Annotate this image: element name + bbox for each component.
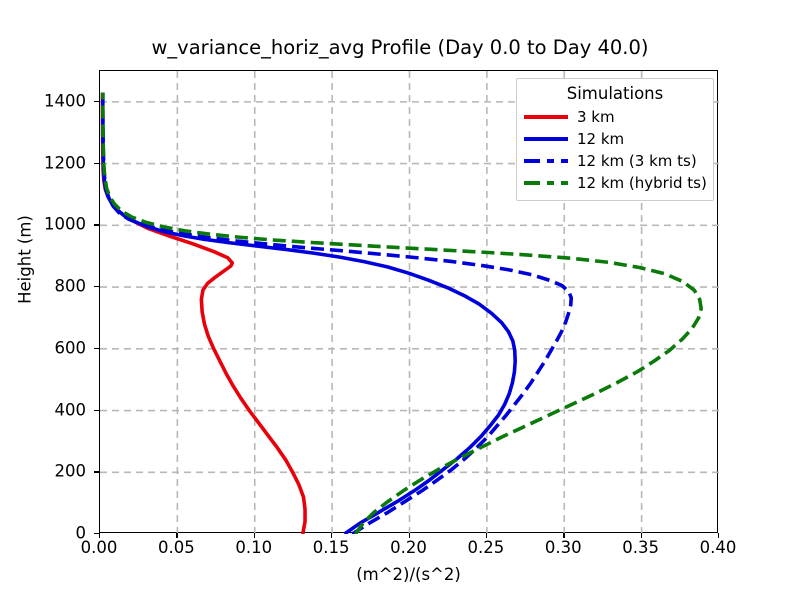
legend-item-label: 12 km — [577, 130, 624, 148]
x-tick-mark — [254, 533, 255, 538]
y-tick-mark — [94, 533, 99, 534]
x-tick-label: 0.00 — [81, 538, 118, 557]
y-tick-mark — [94, 286, 99, 287]
x-tick-mark — [563, 533, 564, 538]
x-tick-mark — [176, 533, 177, 538]
legend-title: Simulations — [524, 83, 706, 106]
legend-entries: 3 km12 km12 km (3 km ts)12 km (hybrid ts… — [524, 106, 706, 194]
y-tick-label: 600 — [10, 338, 86, 357]
x-tick-mark — [331, 533, 332, 538]
chart-figure: w_variance_horiz_avg Profile (Day 0.0 to… — [0, 0, 800, 600]
legend: Simulations 3 km12 km12 km (3 km ts)12 k… — [516, 78, 714, 201]
y-tick-mark — [94, 163, 99, 164]
x-tick-mark — [409, 533, 410, 538]
x-axis-label: (m^2)/(s^2) — [99, 565, 718, 584]
y-tick-label: 200 — [10, 462, 86, 481]
y-tick-mark — [94, 348, 99, 349]
x-tick-label: 0.05 — [158, 538, 195, 557]
legend-color-swatch — [524, 137, 568, 141]
y-tick-mark — [94, 101, 99, 102]
legend-item[interactable]: 12 km — [524, 128, 706, 150]
y-tick-label: 1400 — [10, 91, 86, 110]
x-tick-mark — [486, 533, 487, 538]
legend-color-swatch — [524, 159, 568, 163]
legend-color-swatch — [524, 115, 568, 119]
x-tick-label: 0.20 — [390, 538, 427, 557]
x-tick-label: 0.30 — [545, 538, 582, 557]
y-tick-mark — [94, 471, 99, 472]
y-tick-mark — [94, 224, 99, 225]
x-tick-label: 0.15 — [313, 538, 350, 557]
x-tick-mark — [718, 533, 719, 538]
chart-title: w_variance_horiz_avg Profile (Day 0.0 to… — [0, 36, 800, 59]
legend-item[interactable]: 3 km — [524, 106, 706, 128]
legend-item-label: 3 km — [577, 108, 615, 126]
series-line-2 — [103, 93, 571, 534]
x-tick-label: 0.10 — [235, 538, 272, 557]
x-tick-mark — [99, 533, 100, 538]
x-tick-label: 0.35 — [622, 538, 659, 557]
y-axis-label: Height (m) — [16, 200, 35, 320]
y-tick-mark — [94, 410, 99, 411]
x-tick-label: 0.25 — [468, 538, 505, 557]
legend-color-swatch — [524, 181, 568, 185]
y-tick-label: 400 — [10, 400, 86, 419]
series-line-0 — [102, 93, 305, 534]
legend-item-label: 12 km (3 km ts) — [577, 152, 697, 170]
legend-item-label: 12 km (hybrid ts) — [577, 174, 707, 192]
y-tick-label: 1200 — [10, 153, 86, 172]
x-tick-mark — [641, 533, 642, 538]
y-tick-label: 0 — [10, 524, 86, 543]
x-tick-label: 0.40 — [700, 538, 737, 557]
legend-item[interactable]: 12 km (3 km ts) — [524, 150, 706, 172]
legend-item[interactable]: 12 km (hybrid ts) — [524, 172, 706, 194]
